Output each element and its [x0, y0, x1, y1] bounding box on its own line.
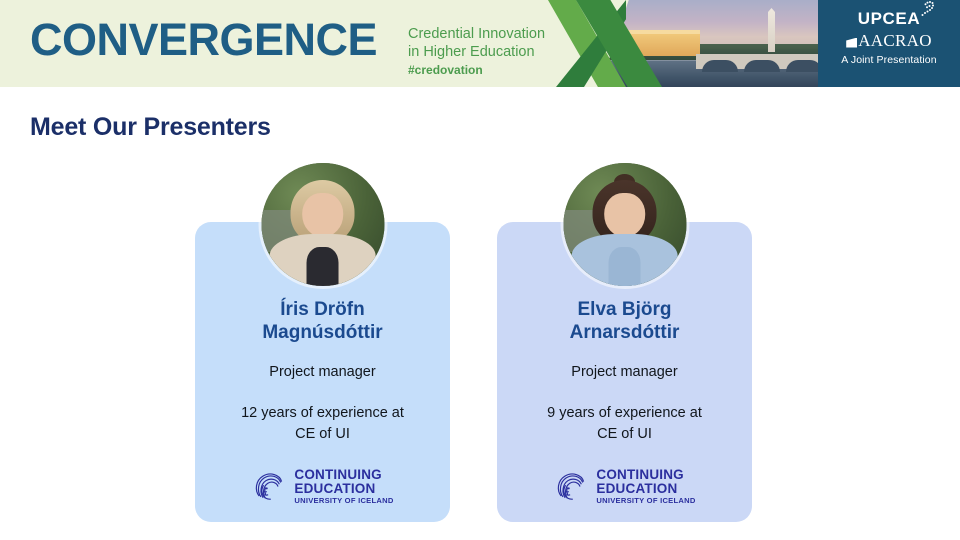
upcea-label: UPCEA [858, 9, 921, 28]
university-of-iceland-emblem-icon [251, 469, 287, 505]
presenter-role: Project manager [195, 364, 450, 380]
logo-line-1: CONTINUING [294, 468, 393, 482]
presenter-experience: 9 years of experience at CE of UI [497, 403, 752, 445]
header-tagline: Credential Innovation in Higher Educatio… [408, 25, 545, 78]
presenter-experience-line-1: 12 years of experience at [209, 403, 436, 424]
joint-presentation-label: A Joint Presentation [818, 54, 960, 66]
logo-line-2: EDUCATION [596, 482, 695, 496]
header-banner: CONVERGENCE Credential Innovation in Hig… [0, 0, 960, 87]
presenter-experience: 12 years of experience at CE of UI [195, 403, 450, 445]
presenter-card: Elva Björg Arnarsdóttir Project manager … [497, 222, 752, 522]
aacrao-building-icon [846, 35, 857, 48]
logo-line-1: CONTINUING [596, 468, 695, 482]
presenter-role: Project manager [497, 364, 752, 380]
presenter-name-line-1: Elva Björg [509, 298, 740, 321]
presenter-experience-line-2: CE of UI [209, 424, 436, 445]
presenter-experience-line-2: CE of UI [511, 424, 738, 445]
presenter-name: Elva Björg Arnarsdóttir [497, 298, 752, 344]
presenter-name-line-2: Magnúsdóttir [207, 321, 438, 344]
avatar-face [302, 193, 343, 237]
convergence-wordmark: CONVERGENCE [30, 17, 377, 62]
presenter-name-line-1: Íris Dröfn [207, 298, 438, 321]
aacrao-label: AACRAO [858, 31, 932, 51]
continuing-education-logo: CONTINUING EDUCATION UNIVERSITY OF ICELA… [195, 468, 450, 505]
university-of-iceland-emblem-icon [553, 469, 589, 505]
avatar-top [307, 247, 339, 286]
presenter-experience-line-1: 9 years of experience at [511, 403, 738, 424]
presenter-name-line-2: Arnarsdóttir [509, 321, 740, 344]
avatar-collar [609, 247, 641, 286]
event-hashtag: #credovation [408, 63, 545, 78]
avatar [563, 163, 686, 286]
logo-line-3: UNIVERSITY OF ICELAND [596, 497, 695, 505]
upcea-dot-arc-icon [919, 1, 937, 19]
tagline-line-1: Credential Innovation [408, 25, 545, 43]
logo-line-3: UNIVERSITY OF ICELAND [294, 497, 393, 505]
continuing-education-logo: CONTINUING EDUCATION UNIVERSITY OF ICELA… [497, 468, 752, 505]
page-title: Meet Our Presenters [30, 113, 271, 142]
avatar [261, 163, 384, 286]
presenter-name: Íris Dröfn Magnúsdóttir [195, 298, 450, 344]
aacrao-logo: AACRAO [818, 31, 960, 51]
presenter-card: Íris Dröfn Magnúsdóttir Project manager … [195, 222, 450, 522]
logo-line-2: EDUCATION [294, 482, 393, 496]
avatar-face [604, 193, 645, 237]
logo-text: CONTINUING EDUCATION UNIVERSITY OF ICELA… [294, 468, 393, 505]
joint-presentation-panel: UPCEA AACRAO A Joint Presentation [818, 0, 960, 87]
logo-text: CONTINUING EDUCATION UNIVERSITY OF ICELA… [596, 468, 695, 505]
upcea-logo: UPCEA [858, 9, 921, 29]
tagline-line-2: in Higher Education [408, 43, 545, 61]
